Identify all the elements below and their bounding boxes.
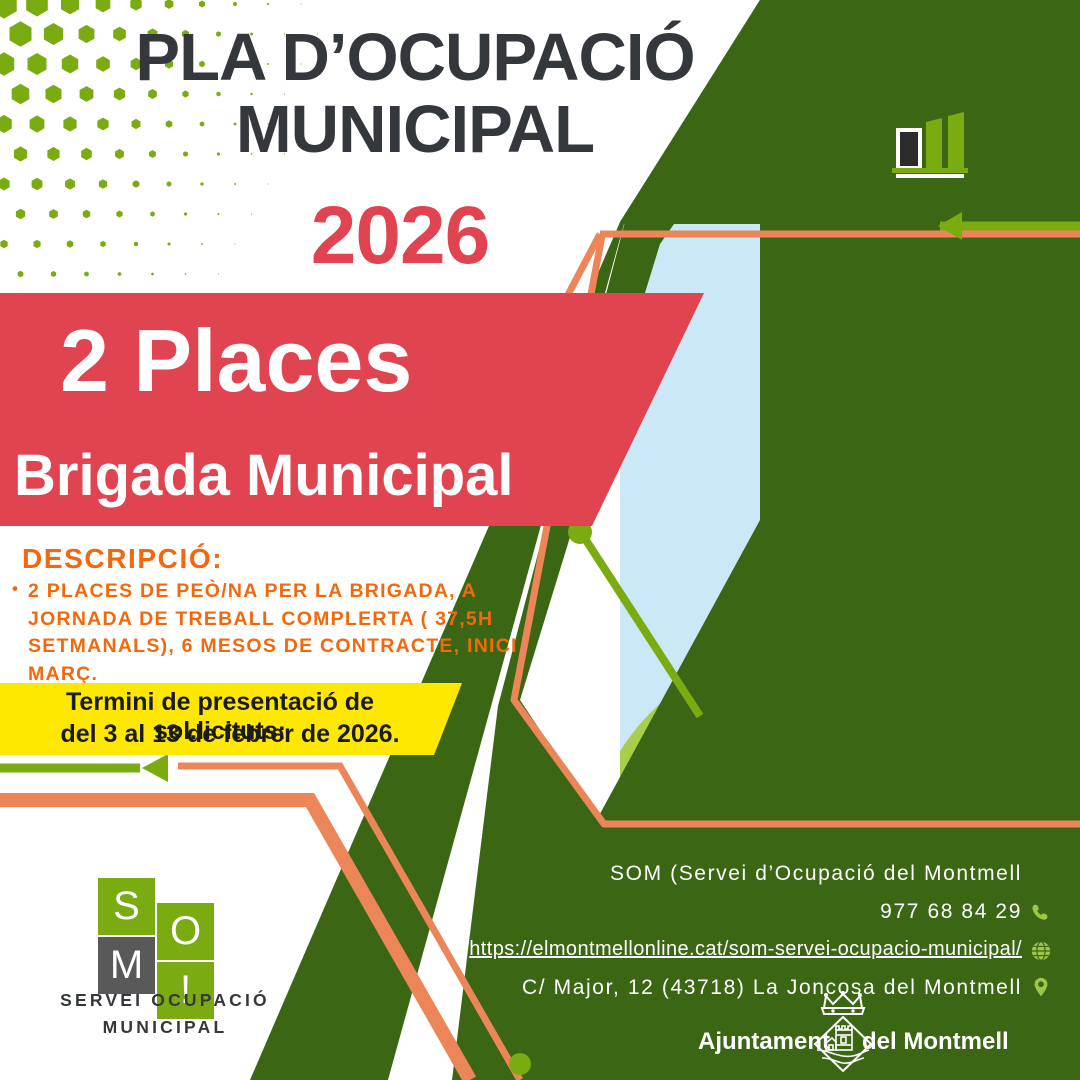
globe-icon: [1030, 940, 1052, 962]
contact-phone: 977 68 84 29: [880, 900, 1022, 924]
som-logo-letter-o: O: [157, 903, 214, 960]
deadline-line-2: del 3 al 13 de febrer de 2026.: [0, 720, 460, 749]
contact-website[interactable]: https://elmontmellonline.cat/som-servei-…: [469, 938, 1022, 961]
places-subtitle: Brigada Municipal: [14, 447, 514, 505]
page-title: PLA D’OCUPACIÓ MUNICIPAL: [0, 22, 830, 167]
phone-icon: [1030, 902, 1052, 924]
som-logo: S O M !: [98, 878, 238, 1003]
som-logo-caption-2: MUNICIPAL: [0, 1017, 330, 1038]
contact-organisation: SOM (Servei d’Ocupació del Montmell: [610, 862, 1022, 886]
title-line-1: PLA D’OCUPACIÓ: [0, 22, 830, 94]
som-logo-letter-s: S: [98, 878, 155, 935]
ajuntament-logo: Ajuntament del Montmell: [690, 988, 1020, 1072]
crown-shield-castle-icon: [800, 988, 886, 1072]
places-count: 2 Places: [60, 317, 412, 405]
poster: 2 Places Brigada Municipal PLA D’OCUPACI…: [0, 0, 1080, 1080]
location-pin-icon: [1030, 976, 1052, 998]
list-item: 2 PLACES DE PEÒ/NA PER LA BRIGADA, A JOR…: [10, 578, 555, 689]
bar-chart-icon: [886, 112, 974, 182]
description-list: 2 PLACES DE PEÒ/NA PER LA BRIGADA, A JOR…: [10, 578, 555, 689]
som-logo-letter-m: M: [98, 937, 155, 994]
title-year: 2026: [0, 195, 800, 277]
description-heading: DESCRIPCIÓ:: [22, 543, 223, 575]
som-logo-caption-1: SERVEI OCUPACIÓ: [0, 990, 330, 1011]
title-line-2: MUNICIPAL: [0, 94, 830, 166]
